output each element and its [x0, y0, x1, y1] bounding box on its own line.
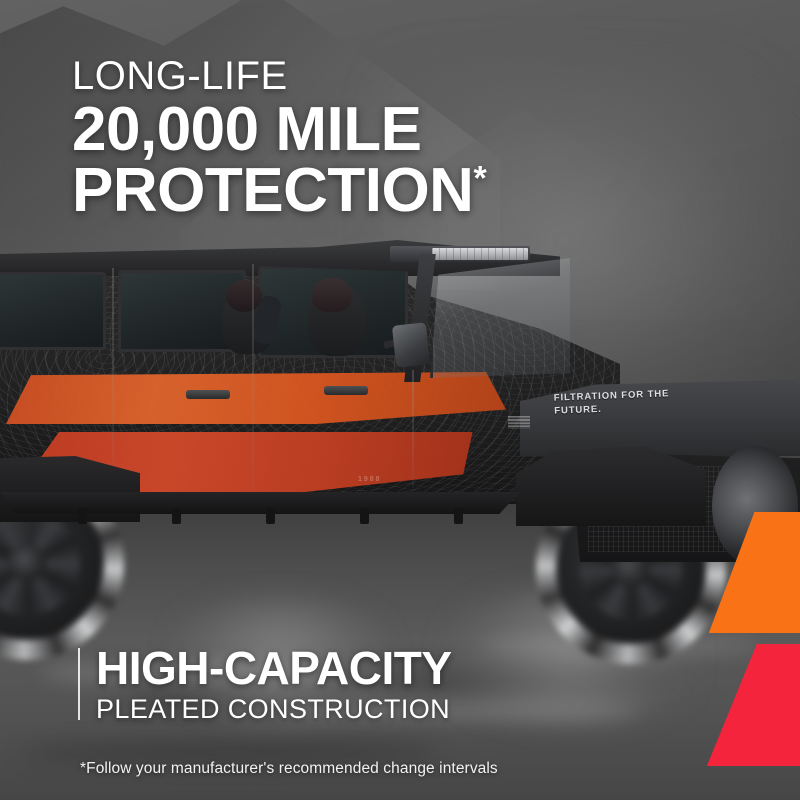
subhead-block: HIGH-CAPACITY PLEATED CONSTRUCTION	[78, 645, 698, 725]
headline-main: 20,000 MILE PROTECTION*	[72, 100, 712, 222]
side-mirror	[392, 322, 430, 367]
rocker-step	[172, 508, 181, 524]
advertisement-banner: FILTRATION FOR THE FUTURE. 1988 K&N. LON…	[0, 0, 800, 800]
headline-line-2-wrap: PROTECTION*	[72, 161, 712, 222]
headline-eyebrow: LONG-LIFE	[72, 56, 712, 96]
filtration-decal: FILTRATION FOR THE FUTURE.	[554, 387, 695, 417]
headline-block: LONG-LIFE 20,000 MILE PROTECTION*	[72, 56, 712, 222]
rocker-step	[360, 508, 369, 524]
rocker-step	[266, 508, 275, 524]
rear-window	[0, 272, 106, 350]
door-handle	[324, 386, 368, 395]
passenger-head	[226, 280, 262, 312]
rocker-step	[78, 508, 87, 524]
subhead-title: HIGH-CAPACITY	[96, 645, 698, 691]
headline-asterisk: *	[473, 159, 486, 197]
disclaimer-text: *Follow your manufacturer's recommended …	[80, 760, 498, 778]
subhead-divider-rule	[78, 648, 80, 720]
headline-line-2: PROTECTION	[72, 156, 473, 225]
year-decal: 1988	[358, 476, 382, 483]
subhead-inner: HIGH-CAPACITY PLEATED CONSTRUCTION	[78, 645, 698, 725]
windshield	[430, 258, 570, 378]
driver-head	[312, 278, 352, 312]
door-handle	[186, 390, 230, 399]
ground-shadow	[20, 742, 440, 762]
headline-line-1: 20,000 MILE	[72, 95, 421, 164]
door-seam	[252, 264, 254, 492]
door-seam	[112, 268, 114, 486]
vehicle-suv: FILTRATION FOR THE FUTURE. 1988 K&N.	[0, 240, 760, 640]
flag-decal-icon	[508, 416, 530, 429]
kn-logo-icon: K&N.	[0, 502, 50, 578]
subhead-caption: PLEATED CONSTRUCTION	[96, 694, 698, 725]
roof-light-bar-icon	[432, 248, 528, 260]
door-seam	[412, 370, 414, 488]
rocker-step	[454, 508, 463, 524]
